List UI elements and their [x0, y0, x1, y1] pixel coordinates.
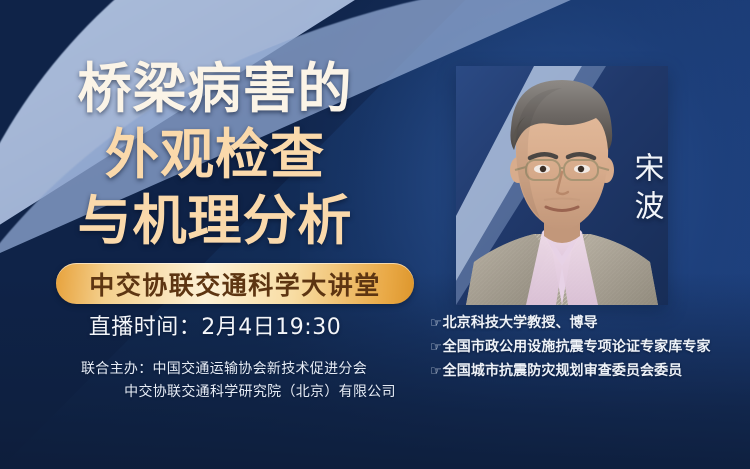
title-line-3: 与机理分析 — [0, 188, 430, 254]
organisers-block: 联合主办：中国交通运输协会新技术促进分会 中交协联交通科学研究院（北京）有限公司 — [0, 358, 448, 404]
pointing-hand-icon: ☞ — [430, 340, 442, 355]
series-banner: 中交协联交通科学大讲堂 — [56, 263, 414, 304]
organiser-line-1: 联合主办：中国交通运输协会新技术促进分会 — [0, 358, 448, 381]
speaker-credentials: ☞ 北京科技大学教授、博导 ☞ 全国市政公用设施抗震专项论证专家库专家 ☞ 全国… — [430, 312, 742, 384]
credential-text: 北京科技大学教授、博导 — [443, 312, 598, 332]
pointing-hand-icon: ☞ — [430, 364, 442, 379]
title-line-1: 桥梁病害的 — [0, 56, 430, 122]
credential-item: ☞ 全国市政公用设施抗震专项论证专家库专家 — [430, 336, 742, 356]
webinar-poster: 宋波 桥梁病害的 外观检查 与机理分析 中交协联交通科学大讲堂 直播时间：2月4… — [0, 0, 750, 469]
credential-text: 全国市政公用设施抗震专项论证专家库专家 — [443, 336, 711, 356]
poster-title: 桥梁病害的 外观检查 与机理分析 — [0, 56, 430, 254]
live-time: 直播时间：2月4日19:30 — [0, 309, 430, 341]
organiser-line-2: 中交协联交通科学研究院（北京）有限公司 — [0, 381, 448, 404]
credential-item: ☞ 全国城市抗震防灾规划审查委员会委员 — [430, 360, 742, 380]
speaker-name: 宋波 — [627, 152, 665, 228]
series-banner-label: 中交协联交通科学大讲堂 — [89, 266, 381, 302]
credential-text: 全国城市抗震防灾规划审查委员会委员 — [443, 360, 683, 380]
pointing-hand-icon: ☞ — [430, 316, 442, 331]
credential-item: ☞ 北京科技大学教授、博导 — [430, 312, 742, 332]
title-line-2: 外观检查 — [0, 122, 430, 188]
